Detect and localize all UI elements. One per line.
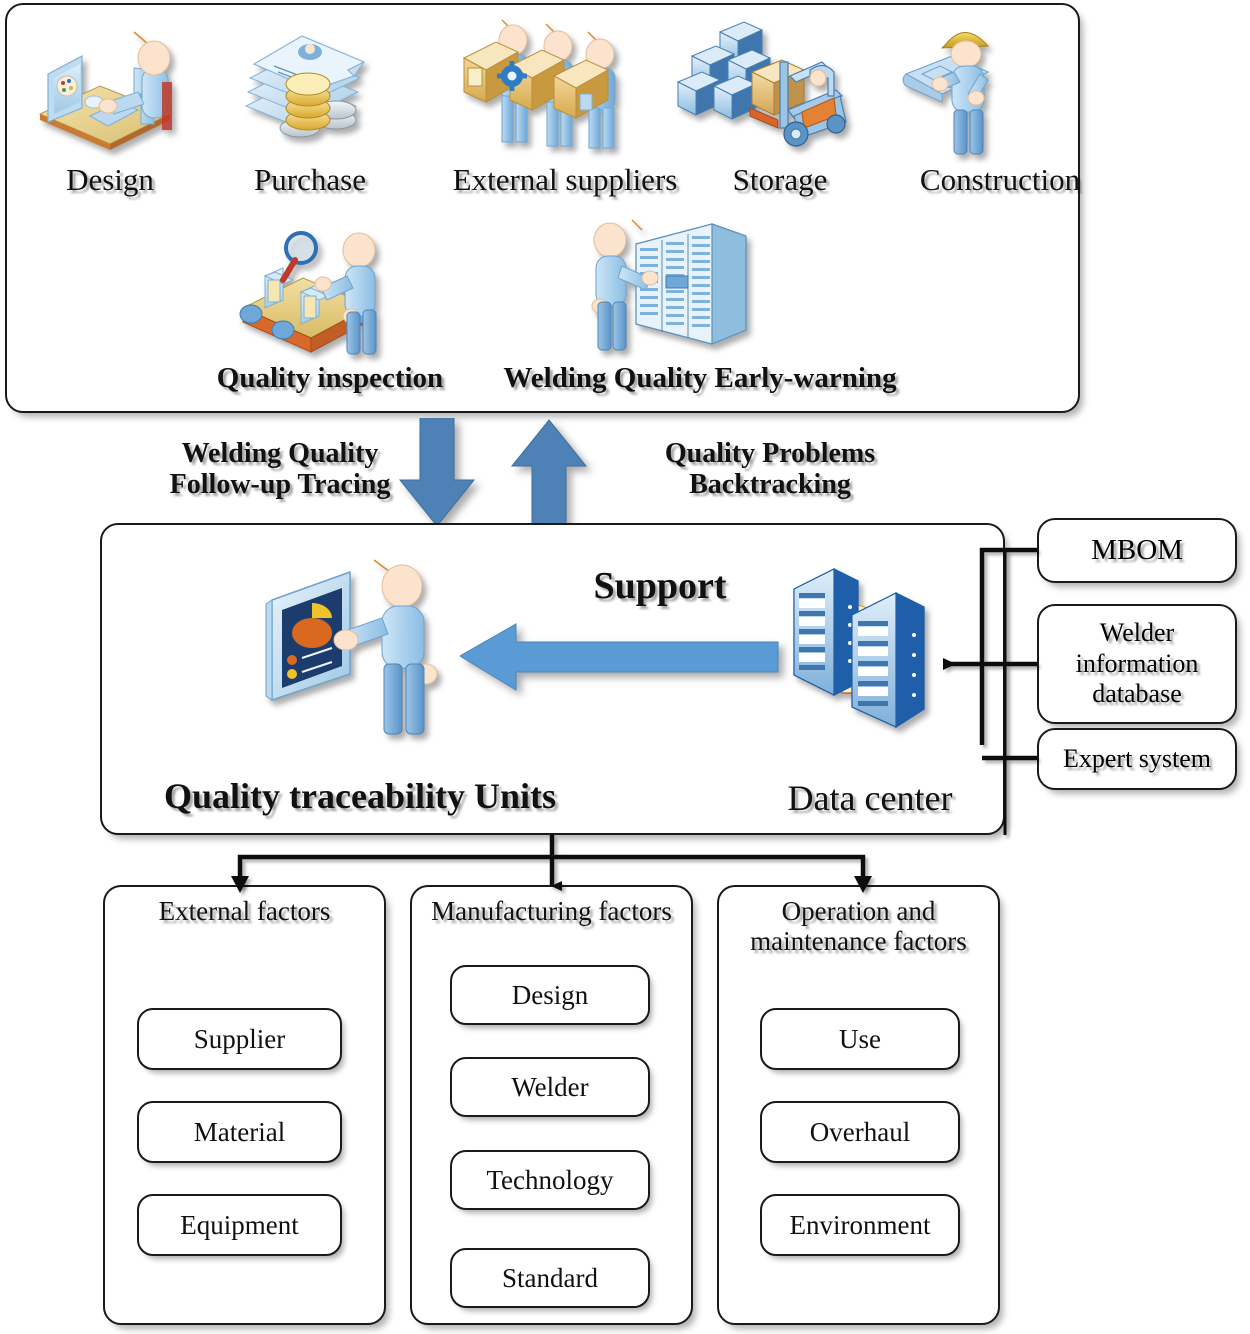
data-center-title: Data center <box>745 778 995 818</box>
diagram-canvas: Design <box>0 0 1250 1334</box>
data-source-welder-db-label: Welder information database <box>1076 618 1199 710</box>
data-source-expert-system-label: Expert system <box>1063 744 1211 774</box>
om-title-line2: maintenance factors <box>750 926 967 956</box>
stage-label-external-suppliers: External suppliers <box>400 163 730 198</box>
factor-column-title-manufacturing-factors: Manufacturing factors <box>410 896 693 926</box>
wire-branch-bar <box>240 857 863 887</box>
factor-column-title-external-factors: External factors <box>103 896 386 926</box>
conveyor-inspection-icon <box>235 222 425 358</box>
factor-item-welder[interactable]: Welder <box>450 1057 650 1117</box>
support-arrow <box>460 614 780 694</box>
up-arrow-label-line2: Backtracking <box>689 469 851 500</box>
designer-at-computer-icon <box>30 22 190 152</box>
stage-label-welding-quality-early-warning: Welding Quality Early-warning <box>490 362 910 394</box>
three-workers-with-boxes-icon <box>450 14 630 154</box>
stage-label-quality-inspection: Quality inspection <box>170 362 490 394</box>
down-arrow-label-line2: Follow-up Tracing <box>170 469 391 500</box>
up-arrow-label-line1: Quality Problems <box>665 438 875 469</box>
factor-item-technology[interactable]: Technology <box>450 1150 650 1210</box>
up-arrow-quality-problems-backtracking <box>510 418 588 528</box>
factor-item-equipment[interactable]: Equipment <box>137 1194 342 1256</box>
documents-and-coins-icon <box>236 20 376 154</box>
factor-item-design[interactable]: Design <box>450 965 650 1025</box>
stage-label-design: Design <box>20 163 200 198</box>
factor-item-material[interactable]: Material <box>137 1101 342 1163</box>
factor-item-standard[interactable]: Standard <box>450 1248 650 1308</box>
welder-db-line3: database <box>1092 679 1182 708</box>
support-label: Support <box>540 565 780 608</box>
warehouse-forklift-icon <box>670 16 855 156</box>
quality-traceability-title: Quality traceability Units <box>125 776 595 816</box>
factor-item-environment[interactable]: Environment <box>760 1194 960 1256</box>
factor-column-title-operation-maintenance-factors: Operation and maintenance factors <box>717 896 1000 956</box>
factor-item-supplier[interactable]: Supplier <box>137 1008 342 1070</box>
data-source-mbom-label: MBOM <box>1091 534 1183 567</box>
analyst-with-pie-chart-screen-icon <box>262 556 457 742</box>
stage-label-storage: Storage <box>690 163 870 198</box>
person-at-server-rack-icon <box>580 218 760 358</box>
data-source-mbom[interactable]: MBOM <box>1037 518 1237 583</box>
welder-db-line1: Welder <box>1100 618 1174 647</box>
data-source-expert-system[interactable]: Expert system <box>1037 728 1237 790</box>
om-title-line1: Operation and <box>782 896 936 926</box>
factor-item-overhaul[interactable]: Overhaul <box>760 1101 960 1163</box>
welder-db-line2: information <box>1076 649 1199 678</box>
up-arrow-label: Quality Problems Backtracking <box>600 438 940 501</box>
data-source-welder-information-database[interactable]: Welder information database <box>1037 604 1237 724</box>
stage-label-purchase: Purchase <box>215 163 405 198</box>
down-arrow-label-line1: Welding Quality <box>182 438 379 469</box>
engineer-with-blueprint-icon <box>900 18 1030 158</box>
down-arrow-label: Welding Quality Follow-up Tracing <box>120 438 440 501</box>
stage-label-construction: Construction <box>875 163 1125 198</box>
server-racks-icon <box>790 565 940 743</box>
factor-item-use[interactable]: Use <box>760 1008 960 1070</box>
